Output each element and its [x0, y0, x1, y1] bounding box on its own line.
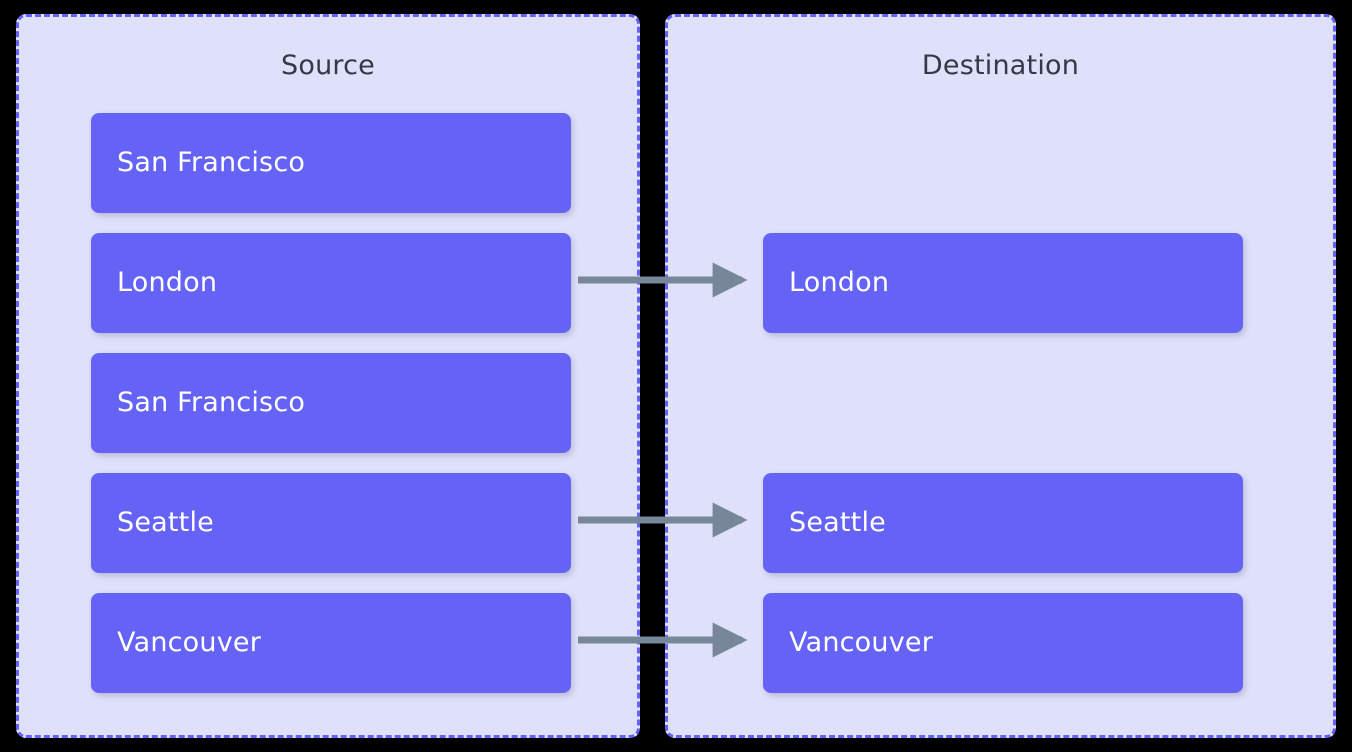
- destination-node-3[interactable]: Vancouver: [763, 593, 1243, 693]
- source-node-5[interactable]: Vancouver: [91, 593, 571, 693]
- source-node-5-label: Vancouver: [91, 627, 261, 659]
- source-node-1[interactable]: San Francisco: [91, 113, 571, 213]
- source-node-1-label: San Francisco: [91, 147, 305, 179]
- source-node-2-label: London: [91, 267, 217, 299]
- destination-node-3-label: Vancouver: [763, 627, 933, 659]
- destination-panel-title: Destination: [668, 50, 1333, 82]
- diagram-canvas: Source San Francisco London San Francisc…: [0, 0, 1352, 752]
- source-node-2[interactable]: London: [91, 233, 571, 333]
- destination-node-2[interactable]: Seattle: [763, 473, 1243, 573]
- destination-panel: Destination London Seattle Vancouver: [665, 14, 1336, 738]
- destination-node-1[interactable]: London: [763, 233, 1243, 333]
- source-panel-title: Source: [19, 50, 637, 82]
- source-node-3-label: San Francisco: [91, 387, 305, 419]
- source-node-4-label: Seattle: [91, 507, 214, 539]
- destination-node-2-label: Seattle: [763, 507, 886, 539]
- source-node-3[interactable]: San Francisco: [91, 353, 571, 453]
- source-panel: Source San Francisco London San Francisc…: [16, 14, 640, 738]
- destination-node-1-label: London: [763, 267, 889, 299]
- source-node-4[interactable]: Seattle: [91, 473, 571, 573]
